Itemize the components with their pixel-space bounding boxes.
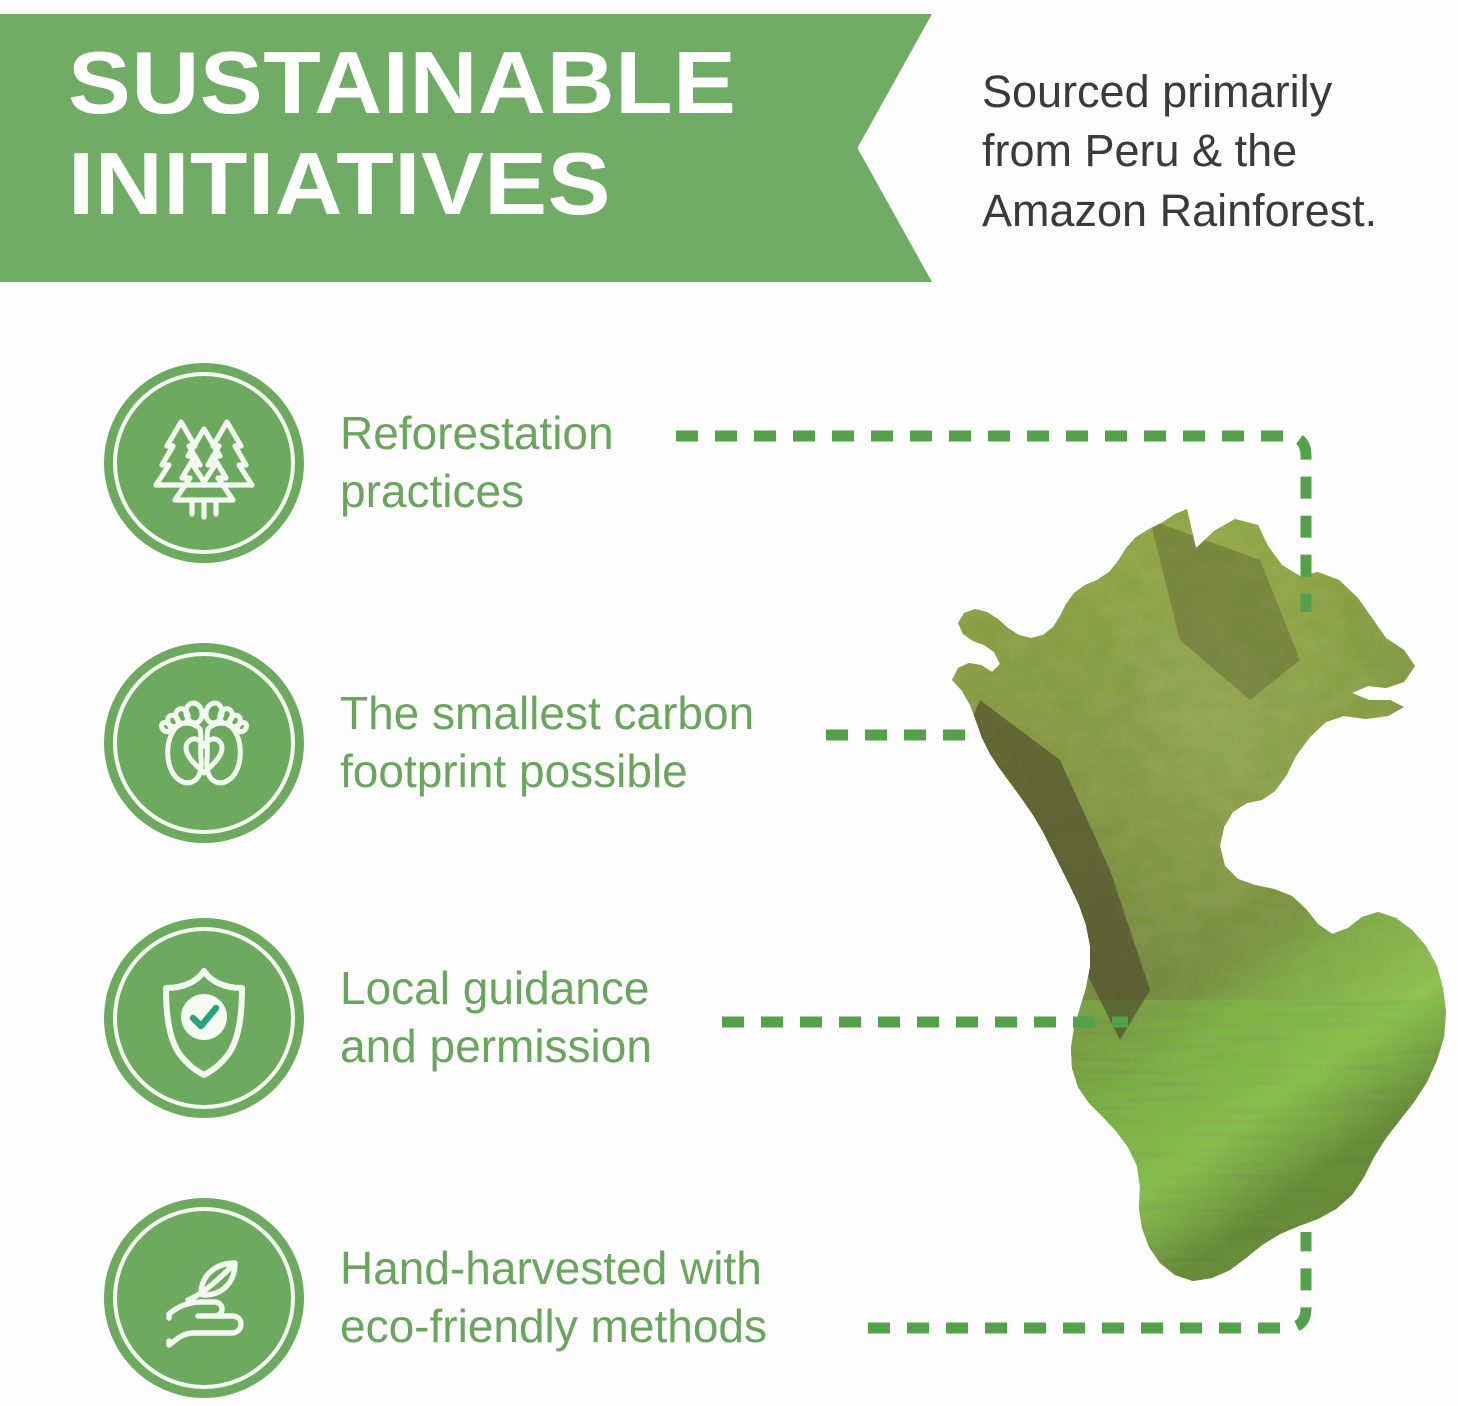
initiative-row-carbon-footprint: The smallest carbon footprint possible — [0, 638, 930, 848]
shield-check-badge — [104, 918, 304, 1118]
footprints-heart-icon — [142, 681, 266, 805]
pine-trees-icon — [140, 399, 268, 527]
shield-check-icon — [141, 955, 267, 1081]
peru-map-fill — [930, 490, 1458, 1300]
hand-leaf-badge — [104, 1198, 304, 1398]
footprints-heart-badge — [104, 643, 304, 843]
initiative-row-hand-harvested: Hand-harvested with eco-friendly methods — [0, 1193, 930, 1403]
check-disc — [181, 994, 227, 1040]
initiative-label-hand-harvested: Hand-harvested with eco-friendly methods — [340, 1240, 767, 1356]
initiative-row-reforestation: Reforestation practices — [0, 358, 930, 568]
initiative-row-local-guidance: Local guidance and permission — [0, 913, 930, 1123]
initiative-label-carbon-footprint: The smallest carbon footprint possible — [340, 685, 754, 801]
initiative-label-local-guidance: Local guidance and permission — [340, 960, 652, 1076]
infographic-page: SUSTAINABLE INITIATIVES Sourced primaril… — [0, 0, 1458, 1406]
hand-palm — [169, 1316, 241, 1345]
pine-trees-badge — [104, 363, 304, 563]
initiative-label-reforestation: Reforestation practices — [340, 405, 614, 521]
hand-leaf-icon — [138, 1232, 270, 1364]
